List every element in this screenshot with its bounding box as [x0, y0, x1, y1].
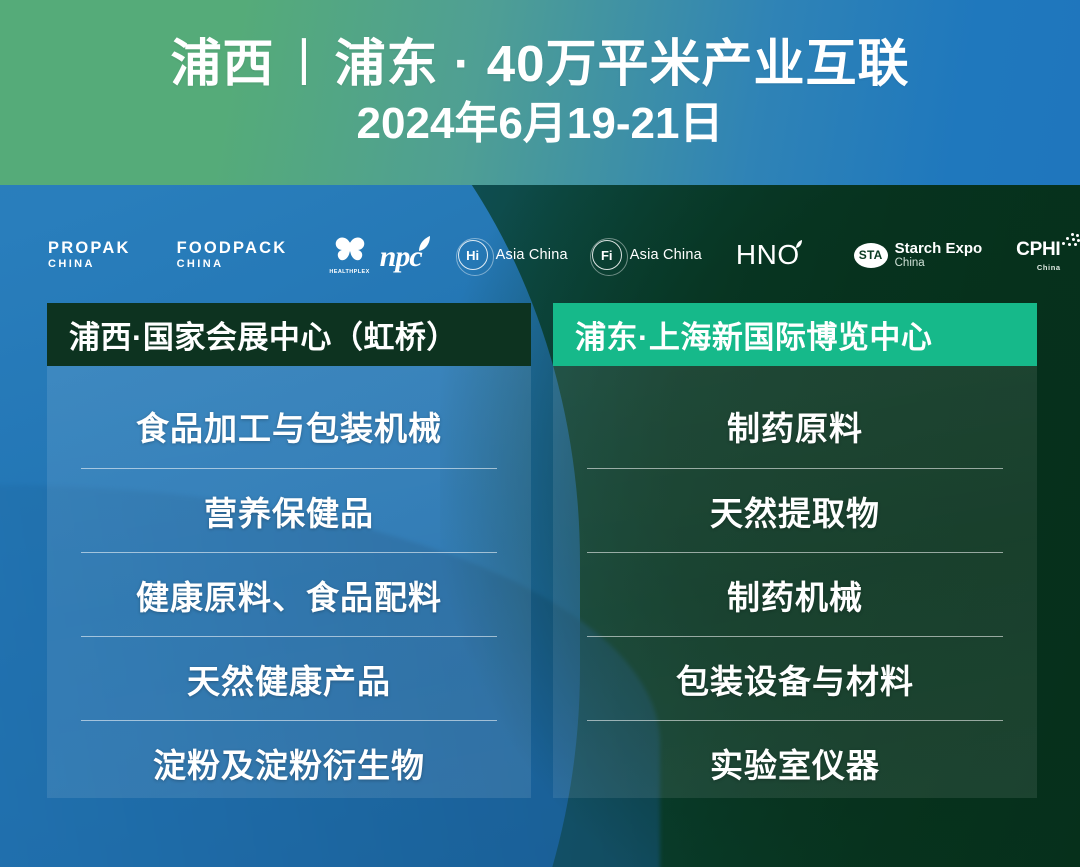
npc-logo-name: npc — [380, 240, 422, 274]
banner-title-part2: 浦东 · 40万平米产业互联 — [334, 35, 909, 92]
logo-cphi-china[interactable]: CPHI China — [1016, 239, 1080, 272]
fi-logo-region: Asia China — [630, 247, 702, 263]
propak-logo-region: CHINA — [48, 259, 95, 270]
apple-leaf-icon — [800, 241, 818, 270]
list-item[interactable]: 制药机械 — [587, 552, 1003, 636]
logo-propak-china[interactable]: PROPAK CHINA — [48, 240, 131, 271]
panel-pudong-list: 制药原料 天然提取物 制药机械 包装设备与材料 实验室仪器 — [553, 366, 1037, 804]
healthplex-logo-name: HEALTHPLEX — [329, 269, 369, 275]
starch-expo-region: China — [895, 257, 983, 269]
cphi-stack: CPHI China — [1016, 239, 1080, 272]
panel-pudong-header-label: 浦东·上海新国际博览中心 — [575, 312, 932, 357]
logo-starch-expo-china[interactable]: STA Starch Expo China — [854, 241, 983, 269]
panel-puxi: 浦西·国家会展中心（虹桥） 食品加工与包装机械 营养保健品 健康原料、食品配料 … — [47, 303, 531, 798]
list-item[interactable]: 天然提取物 — [587, 468, 1003, 552]
panel-puxi-list: 食品加工与包装机械 营养保健品 健康原料、食品配料 天然健康产品 淀粉及淀粉衍生… — [47, 366, 531, 804]
banner-title-part1: 浦西 — [170, 35, 274, 92]
logo-strip: PROPAK CHINA FOODPACK CHINA HEALTHPLEX n… — [0, 225, 1080, 285]
banner-title: 浦西丨浦东 · 40万平米产业互联 — [170, 36, 909, 91]
panel-puxi-header: 浦西·国家会展中心（虹桥） — [47, 303, 531, 366]
list-item[interactable]: 天然健康产品 — [81, 636, 497, 720]
logo-hi-asia-china[interactable]: Hi Asia China — [458, 240, 568, 270]
butterfly-icon — [334, 236, 366, 267]
fi-ring-icon: Fi — [592, 240, 622, 270]
banner-date: 2024年6月19-21日 — [357, 99, 724, 148]
logo-fi-asia-china[interactable]: Fi Asia China — [592, 240, 702, 270]
list-item[interactable]: 实验室仪器 — [587, 720, 1003, 804]
list-item[interactable]: 营养保健品 — [81, 468, 497, 552]
propak-logo-name: PROPAK — [48, 240, 131, 257]
list-item[interactable]: 制药原料 — [587, 384, 1003, 468]
panel-pudong: 浦东·上海新国际博览中心 制药原料 天然提取物 制药机械 包装设备与材料 实验室… — [553, 303, 1037, 798]
logo-npc[interactable]: npc — [380, 238, 436, 272]
logo-hno[interactable]: HNO — [736, 239, 818, 271]
list-item[interactable]: 食品加工与包装机械 — [81, 384, 497, 468]
logo-foodpack-china[interactable]: FOODPACK CHINA — [177, 240, 288, 271]
cphi-dots-icon — [1061, 233, 1080, 253]
list-item[interactable]: 淀粉及淀粉衍生物 — [81, 720, 497, 804]
cphi-logo-region: China — [1037, 263, 1061, 272]
body-area: PROPAK CHINA FOODPACK CHINA HEALTHPLEX n… — [0, 185, 1080, 867]
list-item[interactable]: 健康原料、食品配料 — [81, 552, 497, 636]
banner-title-separator: 丨 — [274, 35, 334, 92]
leaf-icon — [422, 243, 436, 268]
sta-badge-icon: STA — [854, 243, 888, 268]
starch-expo-text: Starch Expo China — [895, 241, 983, 269]
foodpack-logo-name: FOODPACK — [177, 240, 288, 257]
list-item[interactable]: 包装设备与材料 — [587, 636, 1003, 720]
panel-puxi-header-label: 浦西·国家会展中心（虹桥） — [69, 312, 458, 357]
starch-expo-title: Starch Expo — [895, 241, 983, 257]
cphi-logo-name: CPHI — [1016, 239, 1060, 261]
hi-ring-icon: Hi — [458, 240, 488, 270]
foodpack-logo-region: CHINA — [177, 259, 224, 270]
logo-healthplex[interactable]: HEALTHPLEX — [329, 236, 369, 275]
panel-pudong-header: 浦东·上海新国际博览中心 — [553, 303, 1037, 366]
poster-root: 浦西丨浦东 · 40万平米产业互联 2024年6月19-21日 PROPAK C… — [0, 0, 1080, 867]
top-banner: 浦西丨浦东 · 40万平米产业互联 2024年6月19-21日 — [0, 0, 1080, 185]
hi-logo-region: Asia China — [496, 247, 568, 263]
panels-container: 浦西·国家会展中心（虹桥） 食品加工与包装机械 营养保健品 健康原料、食品配料 … — [0, 303, 1080, 867]
